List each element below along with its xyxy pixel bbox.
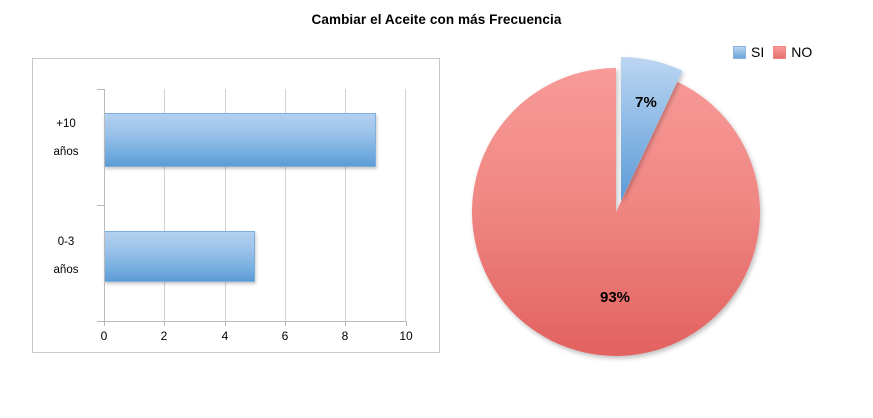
y-axis-tick-top	[97, 89, 105, 90]
x-axis-tick-6	[285, 321, 286, 326]
legend-label-no: NO	[791, 44, 812, 60]
pie-chart[interactable]: 7% 93%	[460, 34, 780, 384]
x-axis-label-6: 6	[270, 329, 300, 343]
legend-swatch-no-icon	[773, 46, 786, 59]
x-axis-tick-2	[164, 321, 165, 326]
bar-chart-panel[interactable]: +10 años 0-3 años 0 2 4 6 8 10	[32, 58, 440, 353]
x-axis-tick-10	[406, 321, 407, 326]
x-axis-label-10: 10	[391, 329, 421, 343]
pie-slice-no[interactable]	[472, 68, 760, 356]
legend-item-si[interactable]: SI	[733, 44, 764, 60]
pie-chart-svg: 7% 93%	[460, 34, 780, 384]
x-axis-label-4: 4	[210, 329, 240, 343]
bar-chart-plot-area	[104, 89, 406, 321]
x-axis-line	[104, 321, 407, 322]
category-label-line1: 0-3	[58, 236, 75, 248]
x-axis-tick-4	[225, 321, 226, 326]
category-label-plus10-anos: +10 años	[33, 103, 99, 159]
bar-0-3-anos[interactable]	[104, 231, 255, 282]
x-axis-tick-8	[345, 321, 346, 326]
legend-swatch-si-icon	[733, 46, 746, 59]
x-axis-label-8: 8	[330, 329, 360, 343]
x-axis-tick-0	[104, 321, 105, 326]
legend-item-no[interactable]: NO	[773, 44, 812, 60]
legend: SI NO	[733, 44, 812, 60]
x-axis-label-0: 0	[89, 329, 119, 343]
y-axis-tick-middle	[97, 205, 105, 206]
category-label-line2: años	[54, 146, 79, 158]
pie-label-no: 93%	[600, 289, 630, 306]
legend-label-si: SI	[751, 44, 764, 60]
gridline-10	[405, 89, 406, 321]
category-label-0-3-anos: 0-3 años	[33, 221, 99, 277]
category-label-line1: +10	[56, 118, 76, 130]
category-label-line2: años	[54, 264, 79, 276]
pie-label-si: 7%	[635, 94, 657, 111]
x-axis-label-2: 2	[149, 329, 179, 343]
page-title: Cambiar el Aceite con más Frecuencia	[0, 12, 873, 27]
bar-plus10-anos[interactable]	[104, 113, 376, 167]
